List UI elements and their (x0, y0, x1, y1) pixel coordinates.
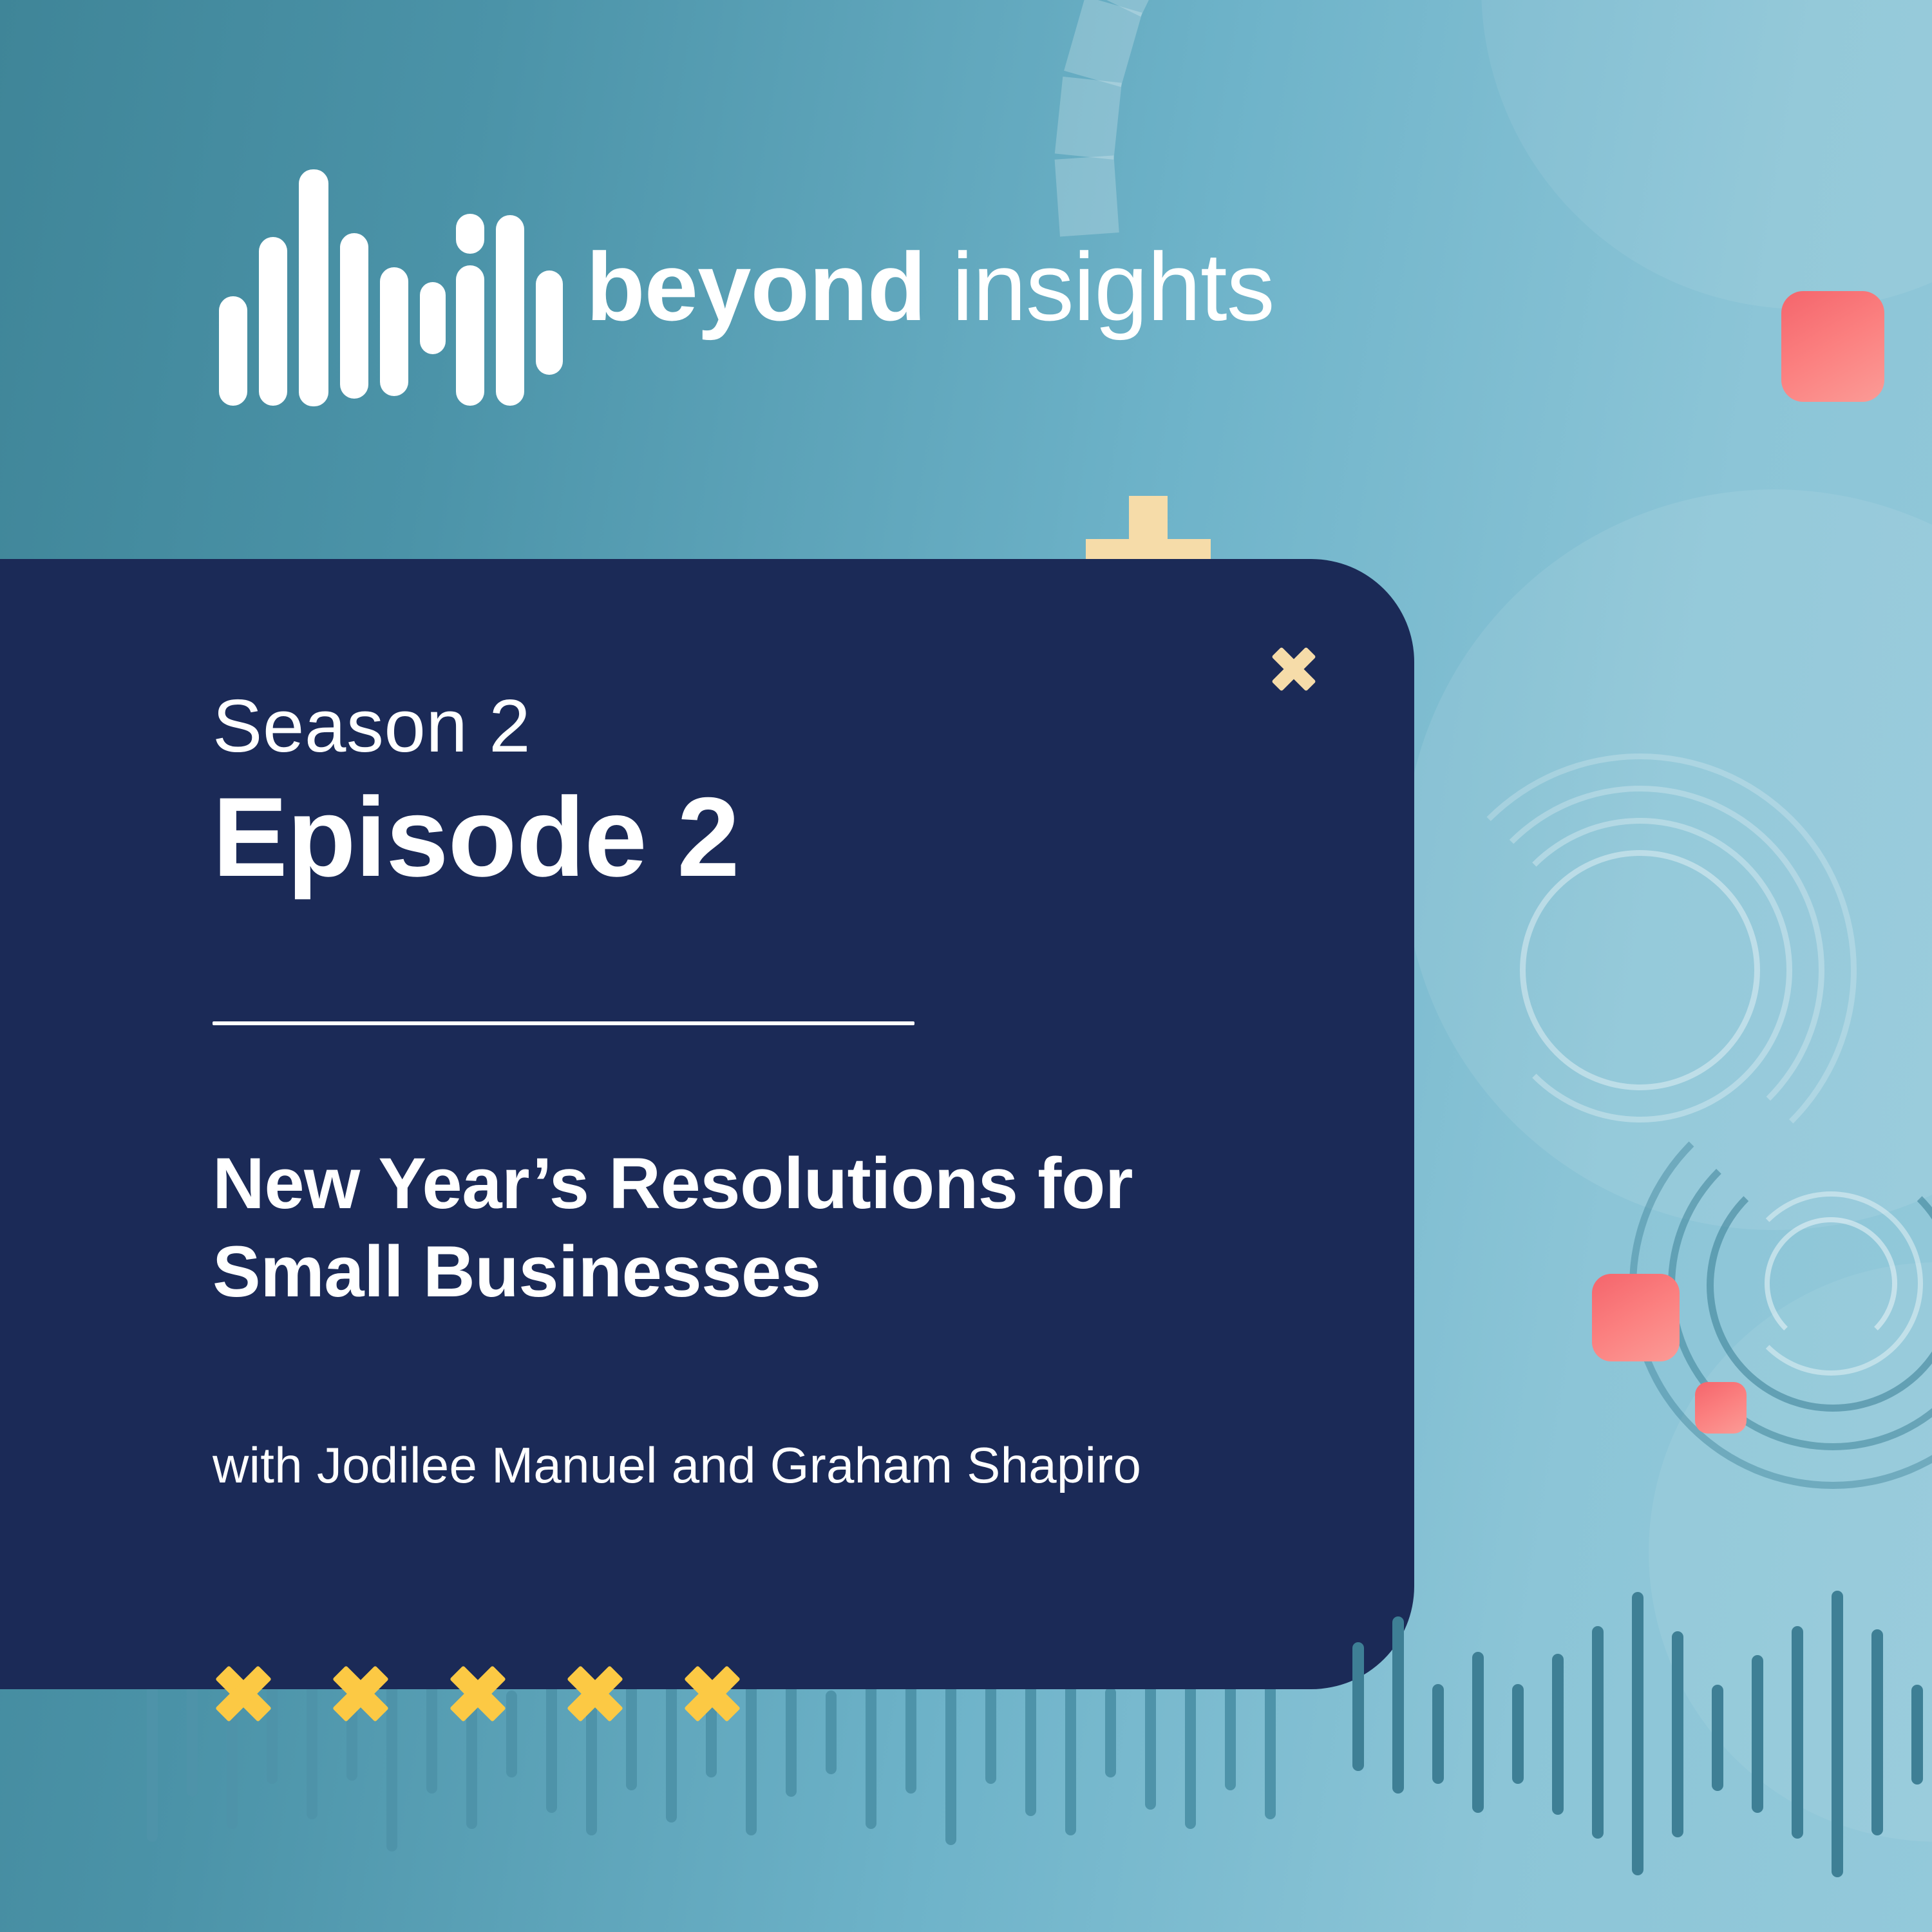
episode-label: Episode 2 (213, 773, 739, 902)
episode-title: New Year’s Resolutions for Small Busines… (213, 1140, 1307, 1316)
podcast-cover-art: beyond insights Season 2 Episode 2 New Y… (0, 0, 1932, 1932)
title-divider (213, 1021, 914, 1025)
coral-square-middle (1592, 1274, 1680, 1361)
episode-title-line-2: Small Businesses (213, 1228, 1307, 1316)
background-blob-small (1649, 1262, 1932, 1842)
x-icon-card (1269, 644, 1319, 694)
hosts-label: with Jodilee Manuel and Graham Shapiro (213, 1436, 1141, 1495)
background-blob-top (1481, 0, 1932, 309)
brand-logo: beyond insights (219, 161, 1274, 412)
coral-square-small (1695, 1382, 1747, 1434)
brand-wordmark: beyond insights (586, 238, 1274, 335)
coral-square-top (1781, 291, 1884, 402)
audio-waveform-logo-icon (219, 161, 541, 412)
season-label: Season 2 (213, 683, 531, 769)
background-blob-large (1404, 489, 1932, 1230)
episode-title-line-1: New Year’s Resolutions for (213, 1140, 1307, 1228)
brand-name-light: insights (952, 232, 1274, 341)
brand-name-bold: beyond (586, 232, 925, 341)
